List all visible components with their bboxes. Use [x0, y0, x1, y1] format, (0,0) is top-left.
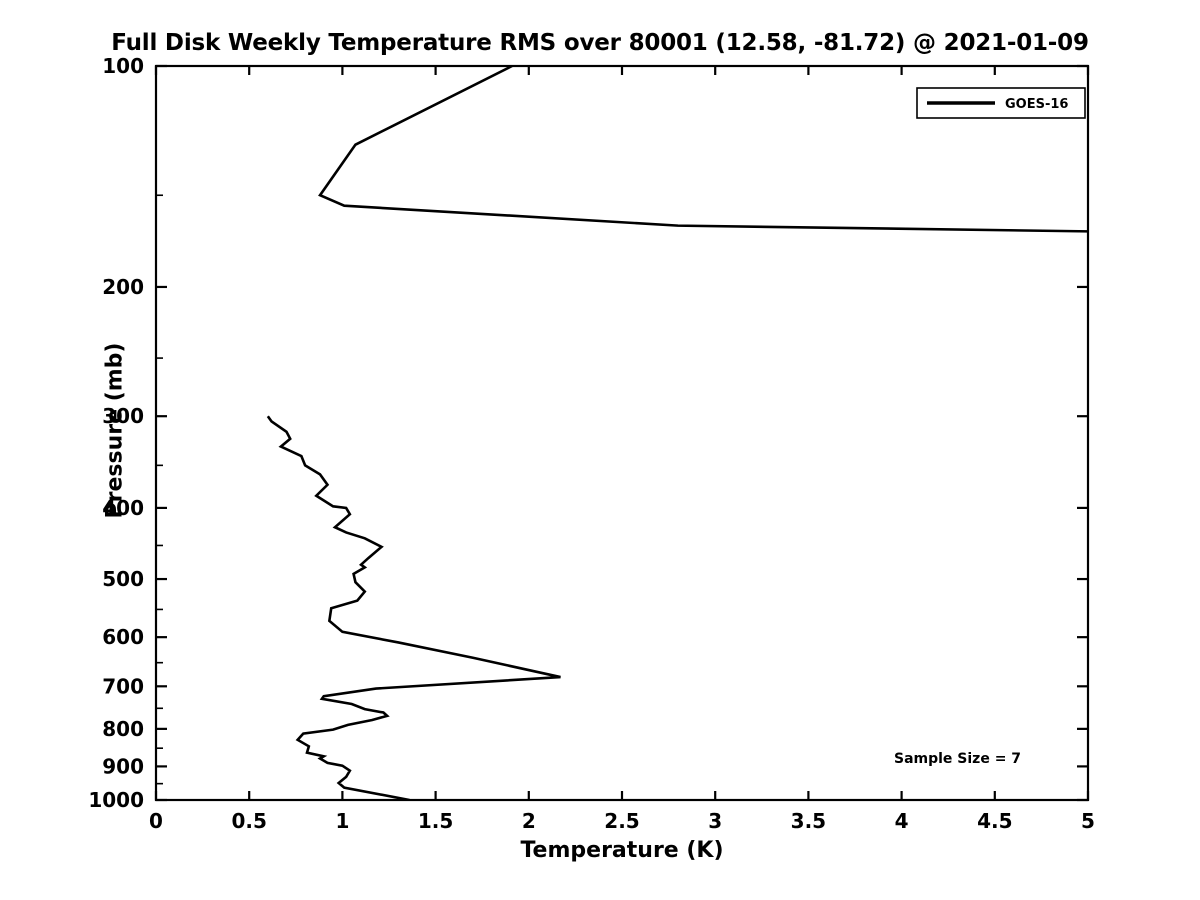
data-series-group	[268, 66, 1088, 800]
y-tick-label: 500	[102, 567, 144, 591]
x-tick-label: 3.5	[791, 809, 826, 833]
annotation-group: Sample Size = 7	[894, 751, 1021, 767]
y-tick-label: 100	[102, 54, 144, 78]
axis-frame	[156, 66, 1088, 800]
y-tick-label: 200	[102, 275, 144, 299]
x-tick-label: 2	[522, 809, 536, 833]
x-tick-label: 1	[335, 809, 349, 833]
y-tick-label: 1000	[88, 788, 144, 812]
y-tick-label: 600	[102, 625, 144, 649]
legend-label-0: GOES-16	[1005, 97, 1068, 112]
sample-size-annotation: Sample Size = 7	[894, 751, 1021, 767]
plot-svg: 00.511.522.533.544.55 100200300400500600…	[0, 0, 1200, 900]
x-tick-label: 4.5	[977, 809, 1012, 833]
x-tick-label: 4	[895, 809, 909, 833]
y-tick-label: 300	[102, 404, 144, 428]
x-tick-label: 2.5	[604, 809, 639, 833]
y-tick-label: 900	[102, 754, 144, 778]
y-tick-label: 700	[102, 674, 144, 698]
y-tick-group: 1002003004005006007008009001000	[88, 54, 1088, 812]
x-tick-group: 00.511.522.533.544.55	[149, 66, 1095, 833]
x-tick-label: 3	[708, 809, 722, 833]
y-tick-label: 800	[102, 717, 144, 741]
chart-root: Full Disk Weekly Temperature RMS over 80…	[0, 0, 1200, 900]
x-tick-label: 0	[149, 809, 163, 833]
legend: GOES-16	[917, 88, 1085, 118]
y-tick-label: 400	[102, 496, 144, 520]
x-tick-label: 0.5	[231, 809, 266, 833]
series-line-0	[268, 416, 561, 800]
x-tick-label: 5	[1081, 809, 1095, 833]
x-tick-label: 1.5	[418, 809, 453, 833]
